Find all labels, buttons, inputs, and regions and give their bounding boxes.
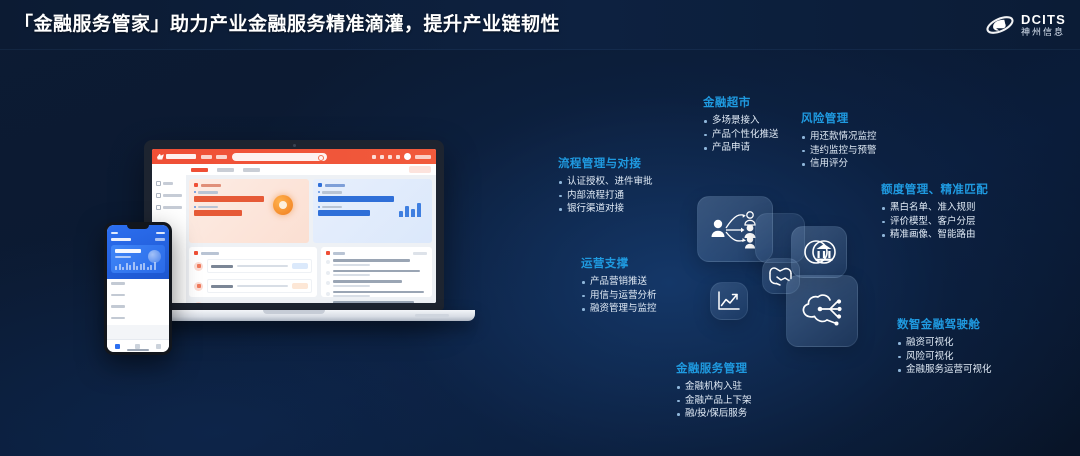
laptop-foot: [415, 314, 449, 317]
coin-icon: [273, 195, 293, 215]
group-title: 数智金融驾驶舱: [897, 316, 992, 332]
tab-third[interactable]: [243, 168, 260, 172]
avatar[interactable]: [404, 153, 411, 160]
app-logo: [157, 154, 196, 160]
hero-title: [115, 249, 141, 253]
phone-home-indicator: [127, 349, 149, 351]
list-title: [333, 291, 424, 294]
phone-action[interactable]: [155, 238, 165, 241]
tab-home-icon[interactable]: [115, 344, 120, 349]
app-logo-glyph-icon: [157, 154, 164, 160]
step-icon: [194, 262, 203, 271]
phone-section: [107, 279, 169, 291]
logo-text: DCITS 神州信息: [1021, 13, 1066, 37]
metric-label: [198, 191, 218, 194]
group-item: 多场景接入: [703, 114, 779, 128]
phone-screen: [107, 225, 169, 352]
list-item[interactable]: [194, 299, 312, 303]
list-date: [333, 274, 371, 276]
stat-card-credit: [313, 179, 433, 243]
list-item[interactable]: [326, 280, 427, 287]
phone-title: [111, 238, 131, 241]
app-nav-item[interactable]: [201, 155, 212, 159]
help-icon[interactable]: [388, 155, 392, 159]
bell-icon[interactable]: [372, 155, 376, 159]
list-title: [333, 301, 414, 303]
panel-title: [333, 252, 345, 255]
group-item: 产品申请: [703, 141, 779, 155]
group-item: 银行渠道对接: [558, 202, 653, 216]
laptop-notch: [263, 310, 325, 314]
group-item: 融资管理与监控: [581, 302, 657, 316]
group-financial-marketplace: 金融超市 多场景接入 产品个性化推送 产品申请: [703, 94, 779, 155]
group-list: 用还款情况监控 违约监控与预警 信用评分: [801, 130, 877, 171]
metric-label: [198, 206, 218, 209]
logo-chinese: 神州信息: [1021, 28, 1066, 37]
hero-globe-icon: [148, 250, 161, 263]
panel-icon: [194, 251, 198, 255]
bar-chart-icon: [399, 199, 423, 217]
sidebar-icon: [156, 205, 161, 210]
group-digital-cockpit: 数智金融驾驶舱 融资可视化 风险可视化 金融服务运营可视化: [897, 316, 992, 377]
list-item[interactable]: [194, 279, 312, 293]
laptop-mockup: [144, 140, 444, 310]
group-item: 违约监控与预警: [801, 144, 877, 158]
metric-value: [318, 196, 395, 202]
step-name: [211, 265, 233, 268]
app-sub-bar: [152, 164, 436, 175]
stat-card-financing: [189, 179, 309, 243]
group-item: 黑白名单、准入规则: [881, 201, 988, 215]
stat-card-title: [318, 183, 428, 187]
app-logo-wordmark: [166, 154, 196, 159]
app-search-input[interactable]: [232, 153, 327, 161]
panel-header: [194, 251, 312, 255]
section-label: [111, 317, 125, 320]
group-item: 融资可视化: [897, 336, 992, 350]
group-item: 融/投/保后服务: [676, 407, 752, 421]
list-item[interactable]: [326, 291, 427, 298]
group-quota-matching: 额度管理、精准匹配 黑白名单、准入规则 评价模型、客户分层 精准画像、智能路由: [881, 181, 988, 242]
group-item: 内部流程打通: [558, 189, 653, 203]
stat-card-label: [201, 184, 221, 187]
metric-label: [322, 191, 342, 194]
sidebar-label: [163, 182, 173, 185]
group-item: 金融产品上下架: [676, 394, 752, 408]
laptop-camera-icon: [293, 144, 296, 147]
settings-icon[interactable]: [396, 155, 400, 159]
sidebar-icon: [156, 193, 161, 198]
phone-section: [107, 314, 169, 326]
list-bullet-icon: [326, 281, 330, 285]
phone-hero-card: [111, 245, 165, 273]
panel-icon: [326, 251, 330, 255]
cloud-network-icon: [797, 291, 847, 331]
group-title: 流程管理与对接: [558, 155, 653, 171]
group-list: 黑白名单、准入规则 评价模型、客户分层 精准画像、智能路由: [881, 201, 988, 242]
status-badge: [292, 263, 308, 269]
sidebar-item[interactable]: [156, 193, 182, 198]
logo-english: DCITS: [1021, 13, 1066, 26]
group-operation-support: 运营支撑 产品营销推送 用信与运营分析 融资管理与监控: [581, 255, 657, 316]
group-list: 金融机构入驻 金融产品上下架 融/投/保后服务: [676, 380, 752, 421]
phone-status-bar: [111, 230, 165, 235]
user-name: [415, 155, 431, 159]
phone-section: [107, 302, 169, 314]
sidebar-icon: [156, 181, 161, 186]
app-top-bar: [152, 149, 436, 164]
group-title: 运营支撑: [581, 255, 657, 271]
group-item: 信用评分: [801, 157, 877, 171]
group-list: 产品营销推送 用信与运营分析 融资管理与监控: [581, 275, 657, 316]
group-list: 认证授权、进件审批 内部流程打通 银行渠道对接: [558, 175, 653, 216]
list-date: [333, 264, 371, 266]
list-bullet-icon: [326, 292, 330, 296]
step-icon: [194, 282, 203, 291]
hero-subtitle: [115, 256, 131, 258]
app-main-content: [186, 175, 436, 303]
page-title: 「金融服务管家」助力产业金融服务精准滴灌，提升产业链韧性: [14, 9, 560, 36]
tab-second[interactable]: [217, 168, 234, 172]
group-title: 额度管理、精准匹配: [881, 181, 988, 197]
group-item: 金融机构入驻: [676, 380, 752, 394]
metric-label: [322, 206, 342, 209]
grid-icon[interactable]: [380, 155, 384, 159]
list-title: [333, 270, 421, 273]
cluster-tile-chart: [710, 282, 748, 320]
phone-section: [107, 291, 169, 303]
tab-more-icon[interactable]: [156, 344, 161, 349]
tab-profile-icon[interactable]: [135, 344, 140, 349]
group-process-management: 流程管理与对接 认证授权、进件审批 内部流程打通 银行渠道对接: [558, 155, 653, 216]
list-date: [333, 285, 371, 287]
list-bullet-icon: [326, 302, 330, 303]
group-item: 金融服务运营可视化: [897, 363, 992, 377]
step-desc: [237, 265, 288, 268]
status-badge: [292, 283, 308, 289]
header-bar: 「金融服务管家」助力产业金融服务精准滴灌，提升产业链韧性 DCITS 神州信息: [0, 0, 1080, 50]
device-mockups: [104, 140, 464, 355]
metric-bullet-icon: [194, 191, 196, 193]
slide-root: 「金融服务管家」助力产业金融服务精准滴灌，提升产业链韧性 DCITS 神州信息: [0, 0, 1080, 456]
list-item[interactable]: [194, 259, 312, 273]
metric-value: [194, 210, 242, 216]
step-icon: [194, 302, 203, 304]
group-title: 金融服务管理: [676, 360, 752, 376]
group-item: 用还款情况监控: [801, 130, 877, 144]
group-list: 融资可视化 风险可视化 金融服务运营可视化: [897, 336, 992, 377]
group-item: 精准画像、智能路由: [881, 228, 988, 242]
group-risk-management: 风险管理 用还款情况监控 违约监控与预警 信用评分: [801, 110, 877, 171]
tab-overview[interactable]: [191, 168, 208, 172]
more-link[interactable]: [413, 252, 427, 255]
group-item: 风险可视化: [897, 350, 992, 364]
sidebar-label: [163, 206, 182, 209]
group-title: 金融超市: [703, 94, 779, 110]
sidebar-item[interactable]: [156, 181, 182, 186]
app-primary-button[interactable]: [409, 166, 431, 173]
notice-panel: [321, 247, 432, 297]
laptop-screen: [152, 149, 436, 303]
group-list: 多场景接入 产品个性化推送 产品申请: [703, 114, 779, 155]
sidebar-label: [163, 194, 182, 197]
metric-bullet-icon: [194, 206, 196, 208]
app-toolbar: [372, 153, 431, 160]
metric-value: [194, 196, 264, 202]
list-title: [333, 259, 410, 262]
list-date: [333, 295, 371, 297]
phone-mockup: [104, 222, 172, 355]
group-financial-service-management: 金融服务管理 金融机构入驻 金融产品上下架 融/投/保后服务: [676, 360, 752, 421]
list-bullet-icon: [326, 260, 330, 264]
app-nav-menu[interactable]: [201, 155, 227, 159]
section-label: [111, 305, 125, 308]
panel-header: [326, 251, 427, 255]
list-title: [333, 280, 403, 283]
phone-notch: [127, 225, 149, 229]
metric-bullet-icon: [318, 206, 320, 208]
app-tabs[interactable]: [191, 168, 260, 172]
swirl-orbit-icon: [985, 12, 1015, 38]
process-panel: [189, 247, 317, 297]
group-item: 产品营销推送: [581, 275, 657, 289]
stat-card-icon: [194, 183, 198, 187]
stat-card-label: [325, 184, 345, 187]
icon-cluster: [697, 196, 867, 356]
stat-card-row: [189, 179, 432, 243]
panel-row: [189, 247, 432, 297]
stat-card-title: [194, 183, 304, 187]
stat-card-icon: [318, 183, 322, 187]
group-item: 评价模型、客户分层: [881, 215, 988, 229]
section-label: [111, 294, 125, 297]
list-item[interactable]: [326, 301, 427, 303]
step-name: [211, 285, 233, 288]
group-title: 风险管理: [801, 110, 877, 126]
bank-coins-icon: [800, 233, 838, 271]
section-label: [111, 282, 125, 285]
metric-bullet-icon: [318, 191, 320, 193]
list-item[interactable]: [326, 270, 427, 277]
phone-header: [107, 225, 169, 279]
metric-value: [318, 210, 371, 216]
group-item: 用信与运营分析: [581, 289, 657, 303]
list-bullet-icon: [326, 271, 330, 275]
app-body: [152, 175, 436, 303]
step-desc: [237, 285, 288, 288]
brand-logo: DCITS 神州信息: [985, 9, 1066, 40]
phone-title-row: [111, 238, 165, 241]
list-item[interactable]: [326, 259, 427, 266]
group-item: 产品个性化推送: [703, 128, 779, 142]
sidebar-item[interactable]: [156, 205, 182, 210]
cluster-tile-cloud: [786, 275, 858, 347]
panel-title: [201, 252, 219, 255]
app-nav-item[interactable]: [216, 155, 227, 159]
growth-chart-icon: [717, 290, 741, 312]
group-item: 认证授权、进件审批: [558, 175, 653, 189]
